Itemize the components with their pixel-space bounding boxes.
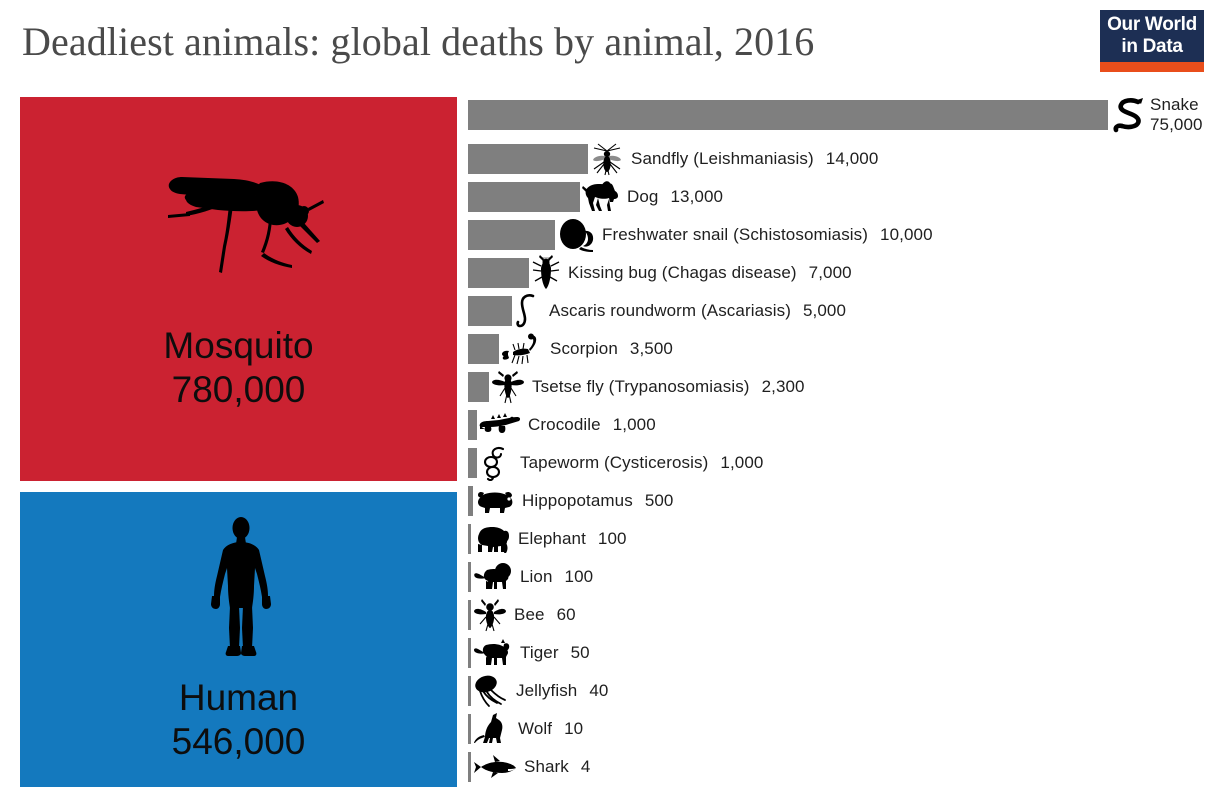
bar — [468, 144, 588, 174]
bar — [468, 296, 512, 326]
our-world-in-data-logo[interactable]: Our World in Data — [1100, 10, 1204, 72]
row-label: Scorpion — [550, 339, 618, 359]
header: Deadliest animals: global deaths by anim… — [0, 0, 1225, 90]
table-row[interactable]: Tsetse fly (Trypanosomiasis) 2,300 — [468, 369, 805, 405]
row-label: Jellyfish — [516, 681, 577, 701]
table-row[interactable]: Bee 60 — [468, 597, 576, 633]
row-label: Tsetse fly (Trypanosomiasis) — [532, 377, 750, 397]
row-value: 1,000 — [720, 453, 763, 473]
row-value: 3,500 — [630, 339, 673, 359]
row-label: Sandfly (Leishmaniasis) — [631, 149, 814, 169]
table-row[interactable]: Elephant 100 — [468, 521, 627, 557]
row-value: 60 — [557, 605, 576, 625]
mosquito-icon — [164, 167, 324, 282]
row-label: Freshwater snail (Schistosomiasis) — [602, 225, 868, 245]
highlight-panel-value: 546,000 — [172, 720, 306, 764]
dog-icon — [582, 180, 620, 214]
row-value: 100 — [565, 567, 594, 587]
row-value: 14,000 — [826, 149, 879, 169]
row-value: 10,000 — [880, 225, 933, 245]
logo-accent-bar — [1100, 62, 1204, 72]
bar — [468, 562, 471, 592]
table-row[interactable]: Ascaris roundworm (Ascariasis) 5,000 — [468, 293, 846, 329]
kissing-bug-icon — [531, 255, 561, 291]
table-row[interactable]: Hippopotamus 500 — [468, 483, 674, 519]
bar — [468, 714, 471, 744]
row-label: Crocodile — [528, 415, 601, 435]
tsetse-fly-icon — [491, 370, 525, 404]
snake-icon — [1110, 97, 1144, 133]
row-label: Ascaris roundworm (Ascariasis) — [549, 301, 791, 321]
row-value: 75,000 — [1150, 115, 1203, 135]
bar — [468, 410, 477, 440]
row-value: 40 — [589, 681, 608, 701]
wolf-icon — [473, 712, 511, 746]
row-value: 1,000 — [613, 415, 656, 435]
highlight-panel-name: Human — [179, 676, 298, 720]
bar — [468, 638, 471, 668]
highlight-panel-human: Human 546,000 — [20, 492, 457, 787]
row-value: 5,000 — [803, 301, 846, 321]
highlight-panel-name: Mosquito — [163, 324, 313, 368]
crocodile-icon — [479, 411, 521, 439]
bar — [468, 372, 489, 402]
table-row[interactable]: Shark 4 — [468, 749, 590, 785]
row-label: Elephant — [518, 529, 586, 549]
row-value: 10 — [564, 719, 583, 739]
row-label: Lion — [520, 567, 553, 587]
scorpion-icon — [501, 332, 543, 366]
row-value: 500 — [645, 491, 674, 511]
row-label: Tiger — [520, 643, 559, 663]
elephant-icon — [473, 523, 511, 555]
row-value: 7,000 — [809, 263, 852, 283]
bar — [468, 258, 529, 288]
bar — [468, 448, 477, 478]
page-title: Deadliest animals: global deaths by anim… — [22, 18, 814, 65]
table-row[interactable]: Crocodile 1,000 — [468, 407, 656, 443]
bar — [468, 752, 471, 782]
highlight-panel-value: 780,000 — [172, 368, 306, 412]
tapeworm-icon — [479, 445, 513, 481]
tiger-icon — [473, 637, 513, 669]
row-value: 50 — [571, 643, 590, 663]
bar — [468, 220, 555, 250]
highlight-panel-mosquito: Mosquito 780,000 — [20, 97, 457, 481]
bar — [468, 600, 471, 630]
table-row[interactable]: Kissing bug (Chagas disease) 7,000 — [468, 255, 852, 291]
bar — [468, 100, 1108, 130]
bar — [468, 676, 471, 706]
sandfly-icon — [590, 142, 624, 176]
row-label: Hippopotamus — [522, 491, 633, 511]
lion-icon — [473, 561, 513, 593]
row-label: Wolf — [518, 719, 552, 739]
table-row[interactable]: Lion 100 — [468, 559, 593, 595]
bar — [468, 524, 471, 554]
row-value: 100 — [598, 529, 627, 549]
row-label: Shark — [524, 757, 569, 777]
row-label: Snake — [1150, 95, 1203, 115]
bar — [468, 486, 473, 516]
roundworm-icon — [514, 293, 542, 329]
human-icon — [208, 516, 274, 658]
table-row[interactable]: Sandfly (Leishmaniasis) 14,000 — [468, 141, 878, 177]
bar — [468, 334, 499, 364]
table-row[interactable]: Tiger 50 — [468, 635, 590, 671]
row-value: 13,000 — [671, 187, 724, 207]
row-value: 2,300 — [762, 377, 805, 397]
logo-line-2: in Data — [1100, 36, 1204, 58]
jellyfish-icon — [473, 674, 509, 708]
hippopotamus-icon — [475, 486, 515, 516]
table-row[interactable]: Tapeworm (Cysticerosis) 1,000 — [468, 445, 763, 481]
row-label: Kissing bug (Chagas disease) — [568, 263, 797, 283]
bar — [468, 182, 580, 212]
table-row[interactable]: Scorpion 3,500 — [468, 331, 673, 367]
row-label: Tapeworm (Cysticerosis) — [520, 453, 708, 473]
row-label: Dog — [627, 187, 659, 207]
row-value: 4 — [581, 757, 591, 777]
bar-chart: Snake 75,000 Sandfly (Leis — [468, 97, 1225, 797]
bee-icon — [473, 598, 507, 632]
row-label: Bee — [514, 605, 545, 625]
snail-icon — [557, 217, 595, 253]
table-row[interactable]: Freshwater snail (Schistosomiasis) 10,00… — [468, 217, 933, 253]
logo-line-1: Our World — [1100, 14, 1204, 36]
table-row[interactable]: Jellyfish 40 — [468, 673, 608, 709]
table-row[interactable]: Snake 75,000 — [468, 97, 1203, 133]
table-row[interactable]: Wolf 10 — [468, 711, 583, 747]
shark-icon — [473, 754, 517, 780]
table-row[interactable]: Dog 13,000 — [468, 179, 723, 215]
